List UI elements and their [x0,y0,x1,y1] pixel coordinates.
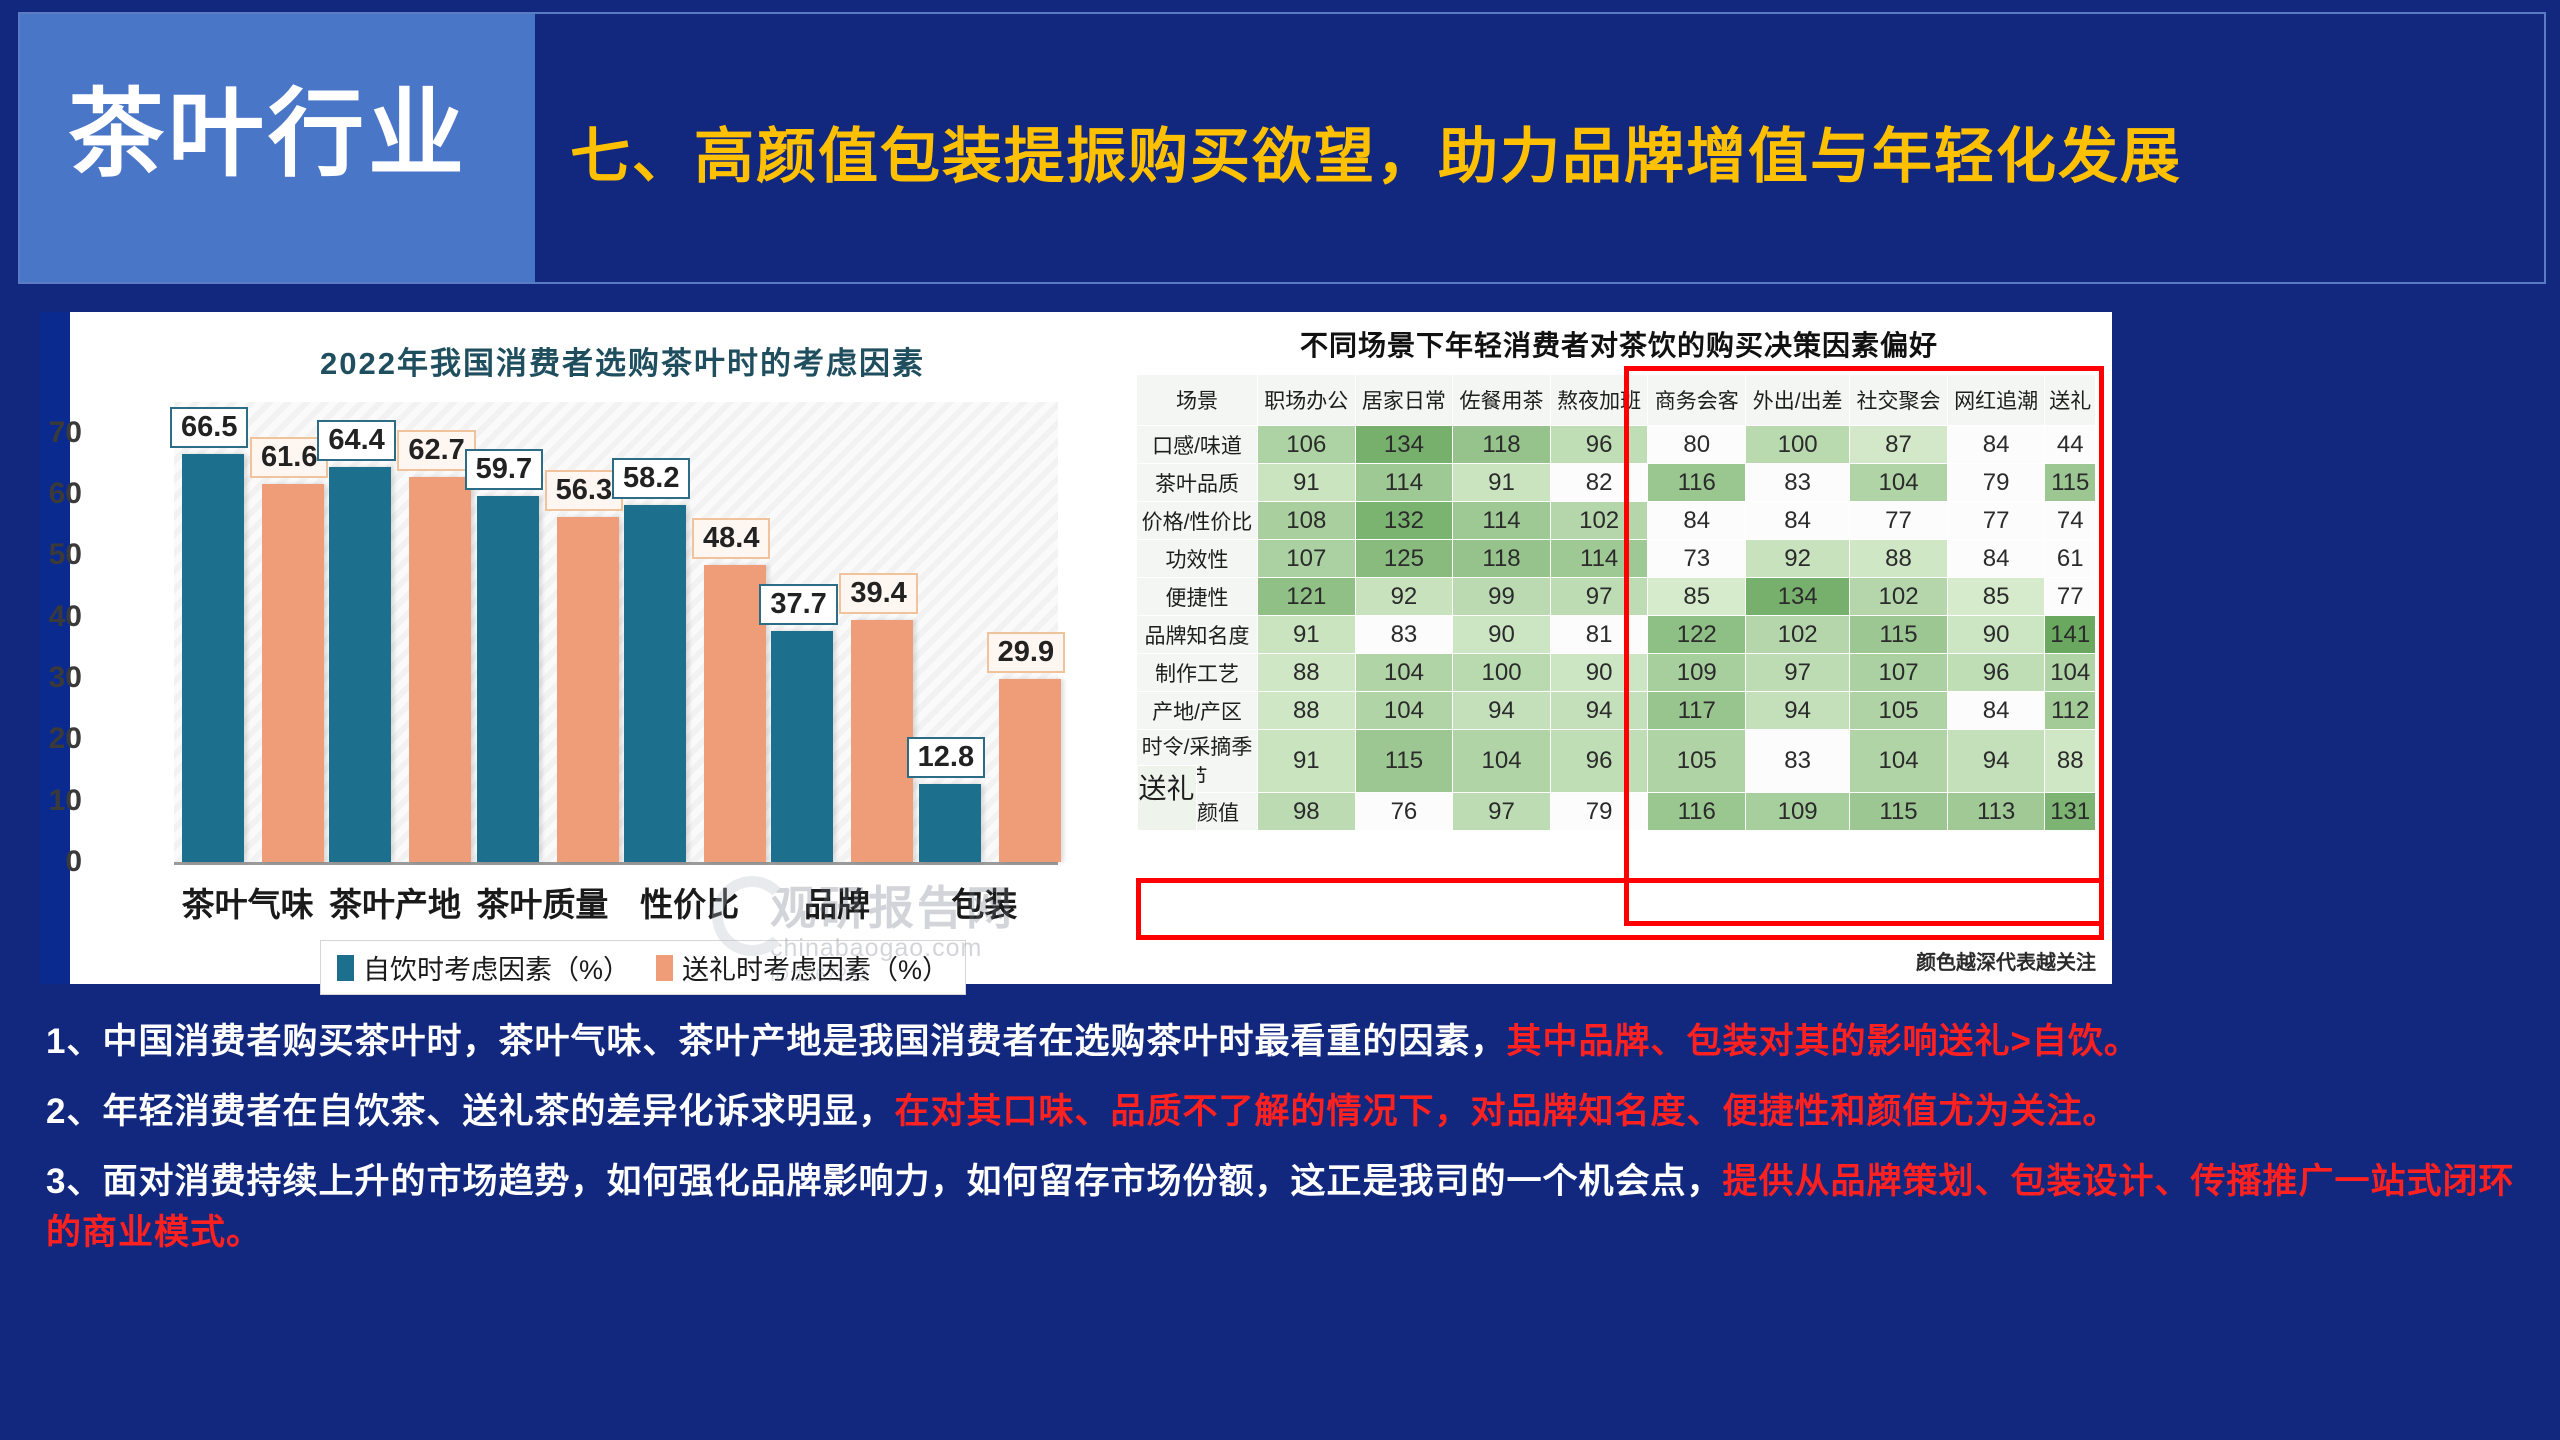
heatmap-cell: 98 [1258,793,1356,831]
heatmap-row-label: 制作工艺 [1137,654,1258,692]
heatmap-cell: 88 [1850,540,1948,578]
heatmap-col-职场办公: 职场办公 [1258,375,1356,426]
heatmap-col-社交聚会: 社交聚会 [1850,375,1948,426]
header-badge-label: 茶叶行业 [68,82,528,188]
heatmap-cell: 84 [1947,426,2045,464]
heatmap-cell: 112 [2045,692,2096,730]
heatmap-column-header: 场景职场办公居家日常佐餐用茶熬夜加班商务会客外出/出差社交聚会网红追潮送礼 [1137,375,2096,426]
bar-self [624,505,686,862]
heatmap-cell: 85 [1947,578,2045,616]
header-badge: 茶叶行业 [20,14,535,282]
heatmap-cell: 94 [1746,692,1850,730]
heatmap-cell: 61 [2045,540,2096,578]
heatmap-cell: 107 [1850,654,1948,692]
heatmap-cell: 116 [1648,464,1746,502]
bar-self [477,496,539,862]
heatmap-col-外出/出差: 外出/出差 [1746,375,1850,426]
heatmap-cell: 102 [1850,578,1948,616]
heatmap-cell: 81 [1550,616,1648,654]
heatmap-cell: 84 [1947,540,2045,578]
heatmap-cell: 104 [1850,464,1948,502]
heatmap-cell: 114 [1550,540,1648,578]
heatmap-cell: 44 [2045,426,2096,464]
heatmap-cell: 97 [1453,793,1551,831]
heatmap-col-佐餐用茶: 佐餐用茶 [1453,375,1551,426]
heatmap-cell: 125 [1355,540,1453,578]
bar-self [182,454,244,862]
bullet-item: 3、面对消费持续上升的市场趋势，如何强化品牌影响力，如何留存市场份额，这正是我司… [46,1156,2526,1260]
heatmap-cell: 104 [1453,730,1551,793]
heatmap-cell: 100 [1746,426,1850,464]
heatmap-cell: 96 [1550,730,1648,793]
y-tick: 20 [22,722,82,756]
bar-group: 37.739.4 [763,402,910,862]
heatmap-group-gift: 送礼 [1137,765,1197,831]
heatmap-cell: 88 [2045,730,2096,793]
heatmap-cell: 97 [1746,654,1850,692]
y-tick: 50 [22,538,82,572]
slide-root: 茶叶行业 七、高颜值包装提振购买欲望，助力品牌增值与年轻化发展 2022年我国消… [0,0,2560,1440]
table-row: 功效性1071251181147392888461 [1137,540,2096,578]
heatmap-cell: 115 [1850,793,1948,831]
heatmap-cell: 84 [1648,502,1746,540]
table-row: 时令/采摘季节9111510496105831049488 [1137,730,2096,793]
bullet-text-highlight: 其中品牌、包装对其的影响送礼>自饮。 [1506,1022,2139,1061]
legend-entry-self: 自饮时考虑因素（%） [337,948,630,987]
heatmap-cell: 76 [1355,793,1453,831]
heatmap-cell: 74 [2045,502,2096,540]
heatmap-cell: 115 [1355,730,1453,793]
bar-self [329,467,391,862]
bullet-item: 2、年轻消费者在自饮茶、送礼茶的差异化诉求明显，在对其口味、品质不了解的情况下，… [46,1086,2526,1138]
heatmap-cell: 91 [1453,464,1551,502]
y-tick: 70 [22,416,82,450]
heatmap-cell: 131 [2045,793,2096,831]
heatmap-cell: 88 [1258,654,1356,692]
bar-value-label: 59.7 [465,449,543,490]
bar-gift [557,517,619,862]
heatmap-row-label: 口感/味道 [1137,426,1258,464]
heatmap-cell: 91 [1258,730,1356,793]
heatmap-cell: 73 [1648,540,1746,578]
heatmap-cell: 87 [1850,426,1948,464]
heatmap-table: 自饮送礼场景职场办公居家日常佐餐用茶熬夜加班商务会客外出/出差社交聚会网红追潮送… [1136,374,2096,831]
heatmap-cell: 83 [1746,730,1850,793]
heatmap-corner-label: 场景 [1137,375,1258,426]
bar-self [771,631,833,862]
heatmap-col-网红追潮: 网红追潮 [1947,375,2045,426]
heatmap-table-panel: 不同场景下年轻消费者对茶饮的购买决策因素偏好 自饮送礼场景职场办公居家日常佐餐用… [1126,312,2112,984]
heatmap-cell: 92 [1355,578,1453,616]
heatmap-cell: 117 [1648,692,1746,730]
bar-value-label: 39.4 [839,573,917,614]
bullet-item: 1、中国消费者购买茶叶时，茶叶气味、茶叶产地是我国消费者在选购茶叶时最看重的因素… [46,1016,2526,1068]
heatmap-cell: 104 [1850,730,1948,793]
heatmap-cell: 118 [1453,540,1551,578]
heatmap-cell: 99 [1453,578,1551,616]
heatmap-col-商务会客: 商务会客 [1648,375,1746,426]
heatmap-col-居家日常: 居家日常 [1355,375,1453,426]
bar-value-label: 37.7 [759,584,837,625]
heatmap-cell: 116 [1648,793,1746,831]
heatmap-cell: 141 [2045,616,2096,654]
heatmap-cell: 85 [1648,578,1746,616]
bar-gift [851,620,913,862]
heatmap-cell: 105 [1850,692,1948,730]
heatmap-cell: 80 [1648,426,1746,464]
heatmap-cell: 94 [1947,730,2045,793]
heatmap-cell: 134 [1746,578,1850,616]
heatmap-note: 颜色越深代表越关注 [1916,946,2096,975]
heatmap-cell: 84 [1746,502,1850,540]
y-tick: 30 [22,661,82,695]
table-row: 产地/产区8810494941179410584112 [1137,692,2096,730]
heatmap-cell: 79 [1550,793,1648,831]
bar-value-label: 64.4 [317,420,395,461]
heatmap-cell: 90 [1947,616,2045,654]
bar-group: 12.829.9 [911,402,1058,862]
heatmap-row-label: 品牌知名度 [1137,616,1258,654]
heatmap-cell: 90 [1550,654,1648,692]
legend-label-self: 自饮时考虑因素（%） [363,948,630,987]
bullet-text-plain: 1、中国消费者购买茶叶时，茶叶气味、茶叶产地是我国消费者在选购茶叶时最看重的因素… [46,1022,1506,1061]
chart-legend: 自饮时考虑因素（%） 送礼时考虑因素（%） [320,940,966,995]
bar-gift [999,679,1061,862]
heatmap-cell: 102 [1746,616,1850,654]
heatmap-cell: 96 [1550,426,1648,464]
heatmap-title: 不同场景下年轻消费者对茶饮的购买决策因素偏好 [1126,324,2112,364]
bar-group: 58.248.4 [616,402,763,862]
heatmap-cell: 114 [1355,464,1453,502]
legend-swatch-self [337,955,354,981]
bar-group: 64.462.7 [321,402,468,862]
bar-value-label: 48.4 [692,518,770,559]
heatmap-cell: 84 [1947,692,2045,730]
heatmap-cell: 121 [1258,578,1356,616]
heatmap-cell: 102 [1550,502,1648,540]
x-axis-category: 包装 [894,878,1074,926]
table-row: 价格/性价比1081321141028484777774 [1137,502,2096,540]
heatmap-cell: 94 [1453,692,1551,730]
heatmap-row-label: 价格/性价比 [1137,502,1258,540]
heatmap-row-label: 茶叶品质 [1137,464,1258,502]
bullet-text-plain: 3、面对消费持续上升的市场趋势，如何强化品牌影响力，如何留存市场份额，这正是我司… [46,1162,1722,1201]
bar-group: 59.756.3 [469,402,616,862]
table-row: 品牌知名度9183908112210211590141 [1137,616,2096,654]
y-tick: 60 [22,477,82,511]
bullet-text-highlight: 在对其口味、品质不了解的情况下，对品牌知名度、便捷性和颜值尤为关注。 [894,1092,2118,1131]
heatmap-cell: 109 [1648,654,1746,692]
heatmap-cell: 83 [1355,616,1453,654]
table-row: 便捷性121929997851341028577 [1137,578,2096,616]
bar-gift [704,565,766,862]
heatmap-cell: 107 [1258,540,1356,578]
heatmap-cell: 97 [1550,578,1648,616]
y-tick: 40 [22,600,82,634]
heatmap-cell: 114 [1453,502,1551,540]
table-row: 口感/味道1061341189680100878444 [1137,426,2096,464]
heatmap-cell: 91 [1258,616,1356,654]
heatmap-col-送礼: 送礼 [2045,375,2096,426]
table-row: 茶叶品质9111491821168310479115 [1137,464,2096,502]
heatmap-cell: 83 [1746,464,1850,502]
page-title: 七、高颜值包装提振购买欲望，助力品牌增值与年轻化发展 [570,108,2182,195]
heatmap-cell: 77 [1947,502,2045,540]
bar-value-label: 12.8 [907,737,985,778]
bar-value-label: 66.5 [170,407,248,448]
table-row: 包装颜值98769779116109115113131 [1137,793,2096,831]
heatmap-cell: 104 [1355,654,1453,692]
legend-swatch-gift [656,955,673,981]
heatmap-cell: 79 [1947,464,2045,502]
bar-self [919,784,981,863]
legend-entry-gift: 送礼时考虑因素（%） [656,948,949,987]
legend-label-gift: 送礼时考虑因素（%） [682,948,949,987]
heatmap-cell: 113 [1947,793,2045,831]
heatmap-cell: 94 [1550,692,1648,730]
heatmap-row-label: 产地/产区 [1137,692,1258,730]
heatmap-cell: 90 [1453,616,1551,654]
bar-value-label: 29.9 [987,632,1065,673]
bullet-list: 1、中国消费者购买茶叶时，茶叶气味、茶叶产地是我国消费者在选购茶叶时最看重的因素… [46,1016,2526,1277]
heatmap-cell: 100 [1453,654,1551,692]
heatmap-cell: 108 [1258,502,1356,540]
highlight-box-packaging-row [1136,878,2104,940]
heatmap-cell: 109 [1746,793,1850,831]
heatmap-cell: 118 [1453,426,1551,464]
bar-group: 66.561.6 [174,402,321,862]
heatmap-cell: 115 [1850,616,1948,654]
heatmap-cell: 105 [1648,730,1746,793]
bar-gift [409,477,471,862]
bar-gift [262,484,324,862]
heatmap-cell: 88 [1258,692,1356,730]
heatmap-cell: 104 [2045,654,2096,692]
heatmap-cell: 132 [1355,502,1453,540]
bar-chart: 2022年我国消费者选购茶叶时的考虑因素 010203040506070 66.… [70,312,1110,984]
heatmap-cell: 92 [1746,540,1850,578]
y-tick: 10 [22,784,82,818]
y-tick: 0 [22,845,82,879]
heatmap-cell: 115 [2045,464,2096,502]
heatmap-cell: 82 [1550,464,1648,502]
panel-left-edge [40,312,70,984]
heatmap-row-label: 便捷性 [1137,578,1258,616]
table-row: 制作工艺88104100901099710796104 [1137,654,2096,692]
heatmap-cell: 77 [2045,578,2096,616]
heatmap-row-label: 功效性 [1137,540,1258,578]
heatmap-cell: 96 [1947,654,2045,692]
heatmap-cell: 134 [1355,426,1453,464]
heatmap-cell: 91 [1258,464,1356,502]
bullet-text-plain: 2、年轻消费者在自饮茶、送礼茶的差异化诉求明显， [46,1092,894,1131]
heatmap-cell: 77 [1850,502,1948,540]
heatmap-cell: 106 [1258,426,1356,464]
heatmap-cell: 104 [1355,692,1453,730]
heatmap-cell: 122 [1648,616,1746,654]
bar-value-label: 58.2 [612,458,690,499]
heatmap-col-熬夜加班: 熬夜加班 [1550,375,1648,426]
